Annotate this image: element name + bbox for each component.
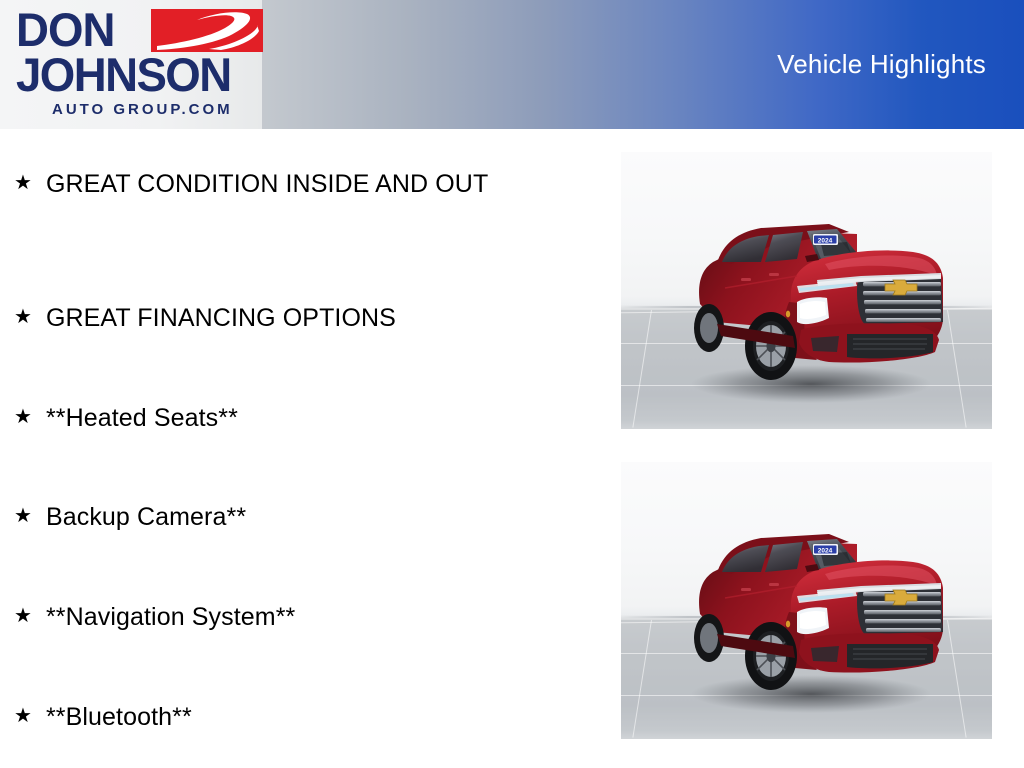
windshield-price-sticker: 2024: [813, 544, 838, 555]
star-bullet-icon: ★: [14, 401, 32, 431]
windshield-price-sticker: 2024: [813, 234, 838, 245]
list-item-label: **Heated Seats**: [46, 401, 574, 435]
list-item: ★ GREAT FINANCING OPTIONS: [14, 301, 574, 335]
svg-text:2024: 2024: [818, 238, 833, 245]
highlights-list: ★ GREAT CONDITION INSIDE AND OUT ★ GREAT…: [0, 129, 600, 768]
star-bullet-icon: ★: [14, 700, 32, 730]
list-item: ★ Backup Camera**: [14, 500, 574, 534]
dealer-logo[interactable]: DON JOHNSON AUTO GROUP.COM: [14, 6, 260, 126]
vehicle-image: 2024: [621, 462, 992, 739]
logo-line-don: DON: [16, 6, 114, 53]
star-bullet-icon: ★: [14, 301, 32, 331]
svg-text:2024: 2024: [818, 548, 833, 555]
page-header: DON JOHNSON AUTO GROUP.COM Vehicle Highl…: [0, 0, 1024, 129]
star-bullet-icon: ★: [14, 600, 32, 630]
swoosh-road-icon: [151, 9, 263, 52]
logo-line-johnson: JOHNSON: [16, 51, 231, 98]
list-item: ★ GREAT CONDITION INSIDE AND OUT: [14, 167, 574, 201]
logo-tagline: AUTO GROUP.COM: [52, 102, 233, 117]
list-item: ★ **Heated Seats**: [14, 401, 574, 435]
vehicle-image: 2024: [621, 152, 992, 429]
chevrolet-traverse-illustration: 2024: [621, 152, 992, 429]
logo-swoosh-box: [151, 9, 263, 52]
star-bullet-icon: ★: [14, 500, 32, 530]
slide-root: DON JOHNSON AUTO GROUP.COM Vehicle Highl…: [0, 0, 1024, 768]
list-item-label: **Navigation System**: [46, 600, 574, 634]
list-item-label: **Bluetooth**: [46, 700, 574, 734]
star-bullet-icon: ★: [14, 167, 32, 197]
list-item-label: GREAT CONDITION INSIDE AND OUT: [46, 167, 574, 201]
list-item-label: Backup Camera**: [46, 500, 574, 534]
vehicle-photo[interactable]: 2024: [621, 152, 992, 429]
list-item-label: GREAT FINANCING OPTIONS: [46, 301, 574, 335]
page-title: Vehicle Highlights: [777, 50, 986, 78]
chevrolet-traverse-illustration: 2024: [621, 462, 992, 739]
list-item: ★ **Navigation System**: [14, 600, 574, 634]
vehicle-photo[interactable]: 2024: [621, 462, 992, 739]
list-item: ★ **Bluetooth**: [14, 700, 574, 734]
